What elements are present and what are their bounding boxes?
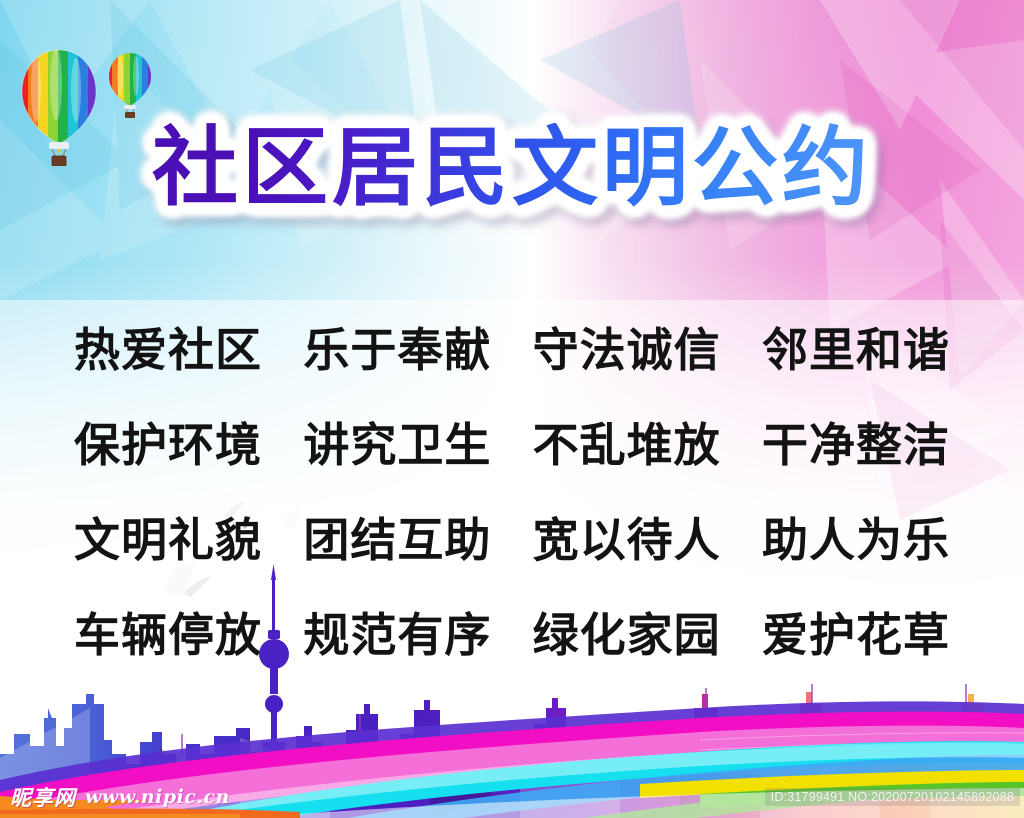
- slogan-item: 干净整洁: [752, 409, 960, 475]
- slogan-item: 绿化家园: [523, 599, 731, 665]
- slogan-row: 文明礼貌 团结互助 宽以待人 助人为乐: [64, 504, 960, 599]
- slogan-item: 车辆停放: [64, 599, 272, 665]
- watermark-logo: 昵享网: [10, 782, 76, 812]
- slogan-item: 守法诚信: [523, 314, 731, 380]
- watermark-url: www.nipic.cn: [85, 786, 230, 808]
- slogan-item: 文明礼貌: [64, 504, 272, 570]
- hot-air-balloon-small: [106, 52, 154, 118]
- slogan-item: 助人为乐: [752, 504, 960, 570]
- slogan-item: 爱护花草: [752, 599, 960, 665]
- slogan-item: 邻里和谐: [752, 314, 960, 380]
- slogan-item: 讲究卫生: [293, 409, 501, 475]
- slogan-item: 保护环境: [64, 409, 272, 475]
- image-id-stamp: ID:31799491 NO:20200720102145892088: [765, 788, 1020, 806]
- slogan-item: 乐于奉献: [293, 314, 501, 380]
- hot-air-balloon-large: [16, 48, 102, 166]
- slogan-row: 保护环境 讲究卫生 不乱堆放 干净整洁: [64, 409, 960, 504]
- slogan-item: 规范有序: [293, 599, 501, 665]
- slogan-item: 团结互助: [293, 504, 501, 570]
- site-watermark: 昵享网 www.nipic.cn: [10, 782, 230, 812]
- slogan-item: 热爱社区: [64, 314, 272, 380]
- poster-canvas: 社区居民文明公约 热爱社区 乐于奉献 守法诚信 邻里和谐 保: [0, 0, 1024, 818]
- slogan-item: 不乱堆放: [523, 409, 731, 475]
- slogan-item: 宽以待人: [523, 504, 731, 570]
- slogan-row: 车辆停放 规范有序 绿化家园 爱护花草: [64, 599, 960, 694]
- page-title: 社区居民文明公约: [152, 123, 872, 213]
- poster-title-container: 社区居民文明公约: [0, 123, 1024, 213]
- slogan-row: 热爱社区 乐于奉献 守法诚信 邻里和谐: [64, 314, 960, 409]
- slogan-grid: 热爱社区 乐于奉献 守法诚信 邻里和谐 保护环境 讲究卫生 不乱堆放 干净整洁 …: [64, 314, 960, 694]
